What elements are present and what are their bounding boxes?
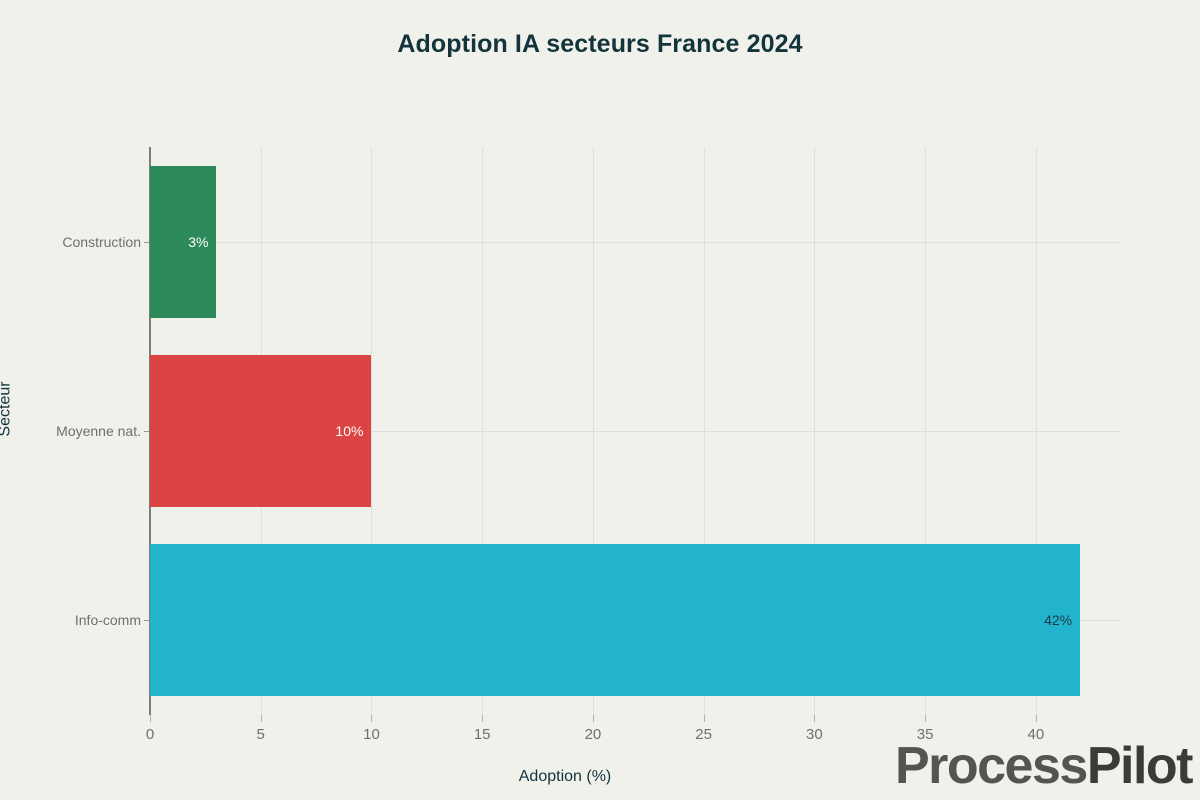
x-tick-mark: [1036, 715, 1037, 722]
x-tick-label: 0: [120, 726, 180, 743]
bar-value-label: 3%: [188, 234, 216, 250]
y-tick-label: Info-comm: [0, 612, 141, 628]
y-tick-mark: [144, 242, 149, 243]
x-tick-label: 5: [231, 726, 291, 743]
y-tick-mark: [144, 620, 149, 621]
x-tick-label: 30: [784, 726, 844, 743]
x-tick-label: 15: [452, 726, 512, 743]
page-title: Adoption IA secteurs France 2024: [0, 30, 1200, 59]
x-tick-label: 10: [341, 726, 401, 743]
x-tick-mark: [371, 715, 372, 722]
bar-value-label: 42%: [1044, 612, 1080, 628]
x-tick-mark: [261, 715, 262, 722]
chart-figure: Adoption IA secteurs France 2024 Secteur…: [0, 0, 1200, 800]
plot-area: 3%10%42%: [150, 147, 1120, 715]
watermark-part-two: Pilot: [1087, 737, 1192, 795]
bar-info-comm[interactable]: 42%: [150, 544, 1080, 696]
x-tick-mark: [704, 715, 705, 722]
x-tick-label: 20: [563, 726, 623, 743]
x-tick-mark: [814, 715, 815, 722]
x-tick-mark: [593, 715, 594, 722]
y-tick-mark: [144, 431, 149, 432]
bar-construction[interactable]: 3%: [150, 166, 216, 318]
horizontal-gridline: [150, 242, 1120, 243]
watermark-part-one: Process: [895, 737, 1087, 795]
x-tick-label: 25: [674, 726, 734, 743]
y-tick-label: Moyenne nat.: [0, 423, 141, 439]
y-tick-label: Construction: [0, 234, 141, 250]
x-tick-mark: [925, 715, 926, 722]
x-tick-mark: [482, 715, 483, 722]
x-tick-mark: [150, 715, 151, 722]
bar-value-label: 10%: [335, 423, 371, 439]
watermark-processpilot: ProcessPilot: [895, 740, 1192, 792]
bar-moyenne-nat[interactable]: 10%: [150, 355, 371, 507]
